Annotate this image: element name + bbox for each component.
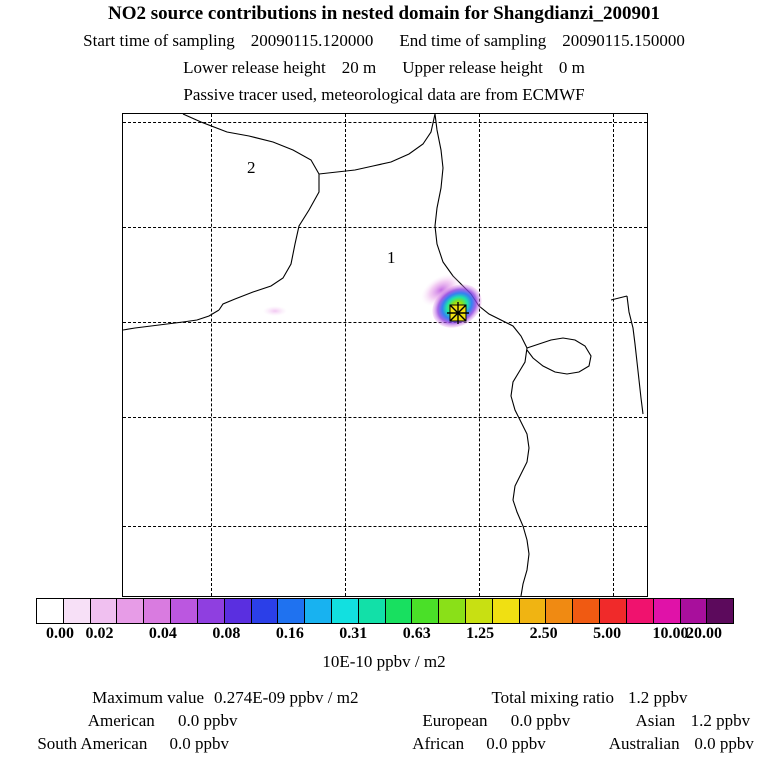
colorbar-swatch bbox=[198, 599, 225, 623]
max-value-value: 0.274E-09 ppbv / m2 bbox=[214, 686, 438, 709]
total-mixing-value: 1.2 ppbv bbox=[628, 686, 724, 709]
end-time-value: 20090115.150000 bbox=[562, 31, 685, 50]
colorbar-swatch bbox=[225, 599, 252, 623]
colorbar-tick-label: 1.25 bbox=[466, 625, 494, 643]
colorbar-swatch bbox=[386, 599, 413, 623]
summary-row-2: South American 0.0 ppbv African 0.0 ppbv… bbox=[0, 732, 768, 755]
plume-overlay bbox=[123, 114, 648, 597]
colorbar-tick-label: 10.00 bbox=[653, 625, 689, 643]
sampling-time-line: Start time of sampling20090115.120000End… bbox=[0, 31, 768, 51]
colorbar-swatch bbox=[305, 599, 332, 623]
colorbar-swatch bbox=[627, 599, 654, 623]
release-height-line: Lower release height20 mUpper release he… bbox=[0, 58, 768, 78]
region-label-european: European bbox=[381, 709, 487, 732]
region-value-asian: 1.2 ppbv bbox=[691, 709, 768, 732]
colorbar-unit-label: 10E-10 ppbv / m2 bbox=[0, 652, 768, 672]
colorbar-tick-label: 2.50 bbox=[530, 625, 558, 643]
colorbar-swatch bbox=[64, 599, 91, 623]
colorbar-tick-label: 5.00 bbox=[593, 625, 621, 643]
colorbar-swatch bbox=[117, 599, 144, 623]
colorbar-swatches bbox=[36, 598, 734, 624]
colorbar-swatch bbox=[681, 599, 708, 623]
lower-release-label: Lower release height bbox=[183, 58, 326, 77]
region-label-american: American bbox=[0, 709, 155, 732]
release-site-marker-icon bbox=[447, 302, 469, 324]
start-time-label: Start time of sampling bbox=[83, 31, 235, 50]
colorbar-tick-label: 20.00 bbox=[686, 625, 722, 643]
colorbar-swatch bbox=[171, 599, 198, 623]
colorbar-swatch bbox=[359, 599, 386, 623]
region-label-asian: Asian bbox=[625, 709, 675, 732]
lower-release-value: 20 m bbox=[342, 58, 376, 77]
region-value-south-american: 0.0 ppbv bbox=[169, 732, 362, 755]
map-panel: 2 1 bbox=[122, 113, 648, 597]
colorbar-tick-label: 0.16 bbox=[276, 625, 304, 643]
colorbar-swatch bbox=[91, 599, 118, 623]
colorbar-swatch bbox=[332, 599, 359, 623]
colorbar-swatch bbox=[573, 599, 600, 623]
colorbar-swatch bbox=[654, 599, 681, 623]
colorbar-tick-label: 0.31 bbox=[339, 625, 367, 643]
summary-row-totals: Maximum value 0.274E-09 ppbv / m2 Total … bbox=[0, 686, 768, 709]
max-value-label: Maximum value bbox=[44, 686, 204, 709]
region-label-1: 1 bbox=[387, 248, 396, 268]
colorbar-swatch bbox=[439, 599, 466, 623]
region-value-american: 0.0 ppbv bbox=[178, 709, 381, 732]
colorbar-swatch bbox=[278, 599, 305, 623]
tracer-note: Passive tracer used, meteorological data… bbox=[0, 85, 768, 105]
start-time-value: 20090115.120000 bbox=[251, 31, 374, 50]
colorbar-swatch bbox=[520, 599, 547, 623]
colorbar-tick-label: 0.00 bbox=[46, 625, 74, 643]
page-title: NO2 source contributions in nested domai… bbox=[0, 3, 768, 25]
colorbar-swatch bbox=[600, 599, 627, 623]
end-time-label: End time of sampling bbox=[399, 31, 546, 50]
colorbar-swatch bbox=[412, 599, 439, 623]
colorbar: 0.000.020.040.080.160.310.631.252.505.00… bbox=[36, 598, 734, 624]
region-label-australian: Australian bbox=[595, 732, 680, 755]
total-mixing-label: Total mixing ratio bbox=[438, 686, 614, 709]
colorbar-swatch bbox=[546, 599, 573, 623]
region-value-european: 0.0 ppbv bbox=[511, 709, 625, 732]
colorbar-tick-label: 0.08 bbox=[212, 625, 240, 643]
colorbar-swatch bbox=[37, 599, 64, 623]
region-label-2: 2 bbox=[247, 158, 256, 178]
colorbar-tick-label: 0.02 bbox=[85, 625, 113, 643]
summary-row-1: American 0.0 ppbv European 0.0 ppbv Asia… bbox=[0, 709, 768, 732]
colorbar-swatch bbox=[493, 599, 520, 623]
region-value-australian: 0.0 ppbv bbox=[694, 732, 768, 755]
colorbar-swatch bbox=[252, 599, 279, 623]
colorbar-tick-label: 0.63 bbox=[403, 625, 431, 643]
colorbar-swatch bbox=[144, 599, 171, 623]
upper-release-value: 0 m bbox=[559, 58, 585, 77]
region-label-south-american: South American bbox=[0, 732, 147, 755]
region-value-african: 0.0 ppbv bbox=[486, 732, 595, 755]
summary-footer: Maximum value 0.274E-09 ppbv / m2 Total … bbox=[0, 686, 768, 755]
region-label-african: African bbox=[363, 732, 464, 755]
colorbar-tick-labels: 0.000.020.040.080.160.310.631.252.505.00… bbox=[36, 625, 734, 645]
colorbar-swatch bbox=[466, 599, 493, 623]
colorbar-swatch bbox=[707, 599, 733, 623]
upper-release-label: Upper release height bbox=[402, 58, 543, 77]
colorbar-tick-label: 0.04 bbox=[149, 625, 177, 643]
